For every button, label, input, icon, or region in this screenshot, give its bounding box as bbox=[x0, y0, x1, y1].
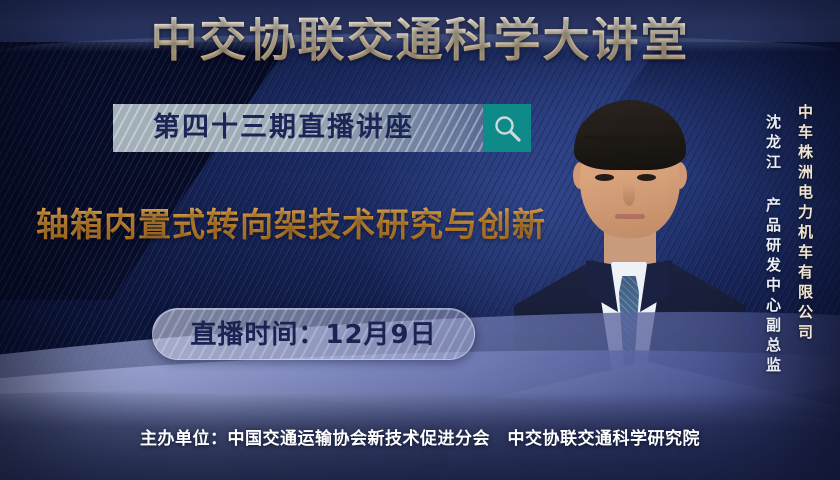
subtitle-bar: 第四十三期直播讲座 bbox=[113, 104, 531, 152]
speaker-name-title: 沈龙江 产品研发中心副总监 bbox=[765, 114, 780, 377]
page-title: 中交协联交通科学大讲堂 bbox=[0, 17, 840, 64]
subtitle-label: 第四十三期直播讲座 bbox=[153, 104, 414, 152]
topic-title: 轴箱内置式转向架技术研究与创新 bbox=[36, 198, 546, 246]
organizer-footer: 主办单位：中国交通运输协会新技术促进分会 中交协联交通科学研究院 bbox=[0, 424, 840, 449]
speaker-company: 中车株洲电力机车有限公司 bbox=[797, 104, 812, 344]
live-time-label: 直播时间：12月9日19:30 bbox=[153, 309, 474, 359]
live-stream-poster: 中交协联交通科学大讲堂 第四十三期直播讲座 轴箱内置式转向架技术研究与创新 直播… bbox=[0, 0, 840, 480]
live-time-badge: 直播时间：12月9日19:30 bbox=[152, 308, 475, 360]
search-icon[interactable] bbox=[483, 104, 531, 152]
